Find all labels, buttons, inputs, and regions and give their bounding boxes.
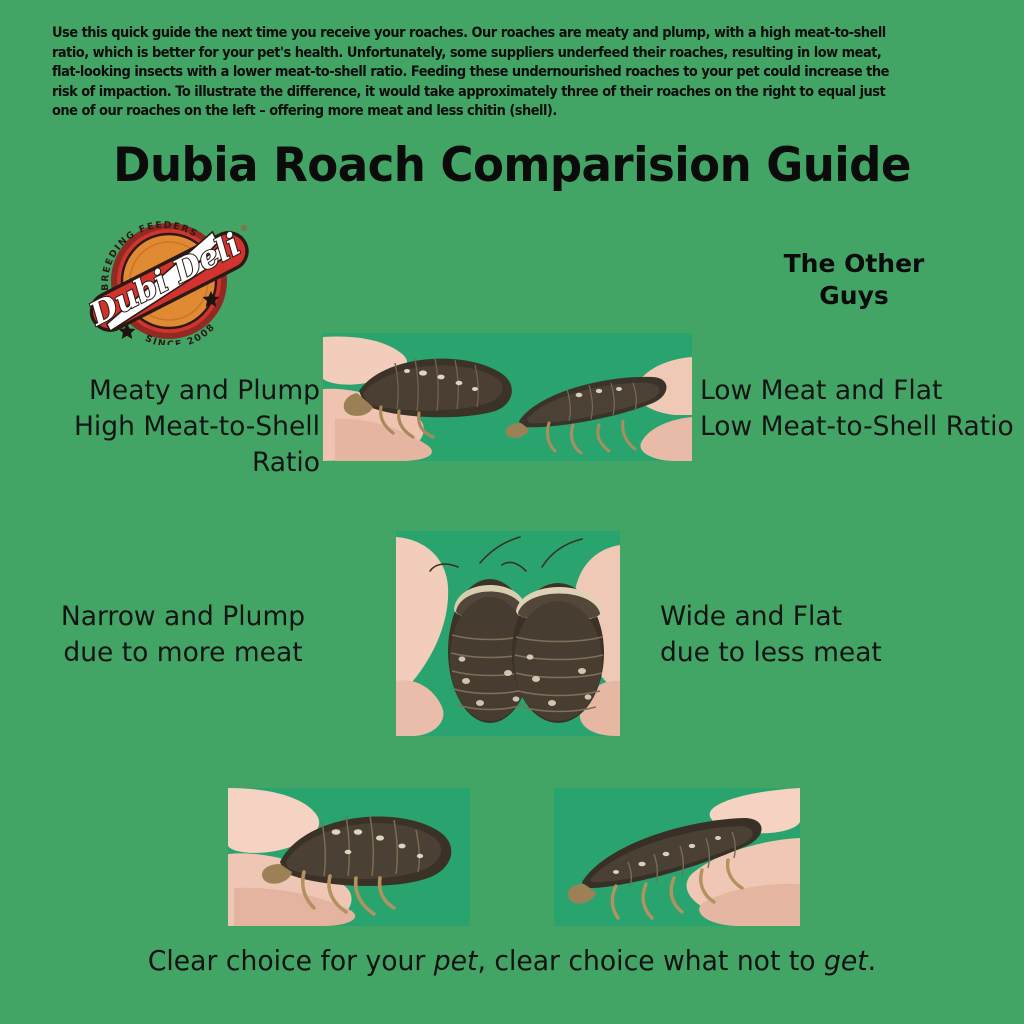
photo-closeup-flat-roach <box>554 788 800 926</box>
caption-row1-right: Low Meat and Flat Low Meat-to-Shell Rati… <box>700 373 1018 445</box>
photo-closeup-plump-roach <box>228 788 470 926</box>
footer-tagline: Clear choice for your pet, clear choice … <box>26 944 999 977</box>
caption-row2-left: Narrow and Plump due to more meat <box>0 599 366 671</box>
other-guys-line1: The Other <box>745 248 963 280</box>
poster-canvas: Use this quick guide the next time you r… <box>0 0 1024 1024</box>
dubi-deli-logo: BREEDING FEEDERS SINCE 2008 Dubi Deli ® <box>80 207 258 345</box>
intro-paragraph: Use this quick guide the next time you r… <box>52 24 899 122</box>
page-title: Dubia Roach Comparision Guide <box>20 138 1003 193</box>
photo-side-view-comparison <box>323 333 692 461</box>
footer-part-3: . <box>868 944 876 977</box>
photo-top-view-comparison <box>396 531 620 736</box>
footer-em-pet: pet <box>434 944 478 977</box>
caption-row2-right: Wide and Flat due to less meat <box>660 599 980 671</box>
svg-text:®: ® <box>240 224 248 233</box>
footer-part-2: , clear choice what not to <box>477 944 824 977</box>
footer-part-1: Clear choice for your <box>148 944 434 977</box>
footer-em-get: get <box>824 944 868 977</box>
other-guys-heading: The Other Guys <box>745 248 963 312</box>
caption-row1-left: Meaty and Plump High Meat-to-Shell Ratio <box>8 373 320 481</box>
other-guys-line2: Guys <box>745 280 963 312</box>
